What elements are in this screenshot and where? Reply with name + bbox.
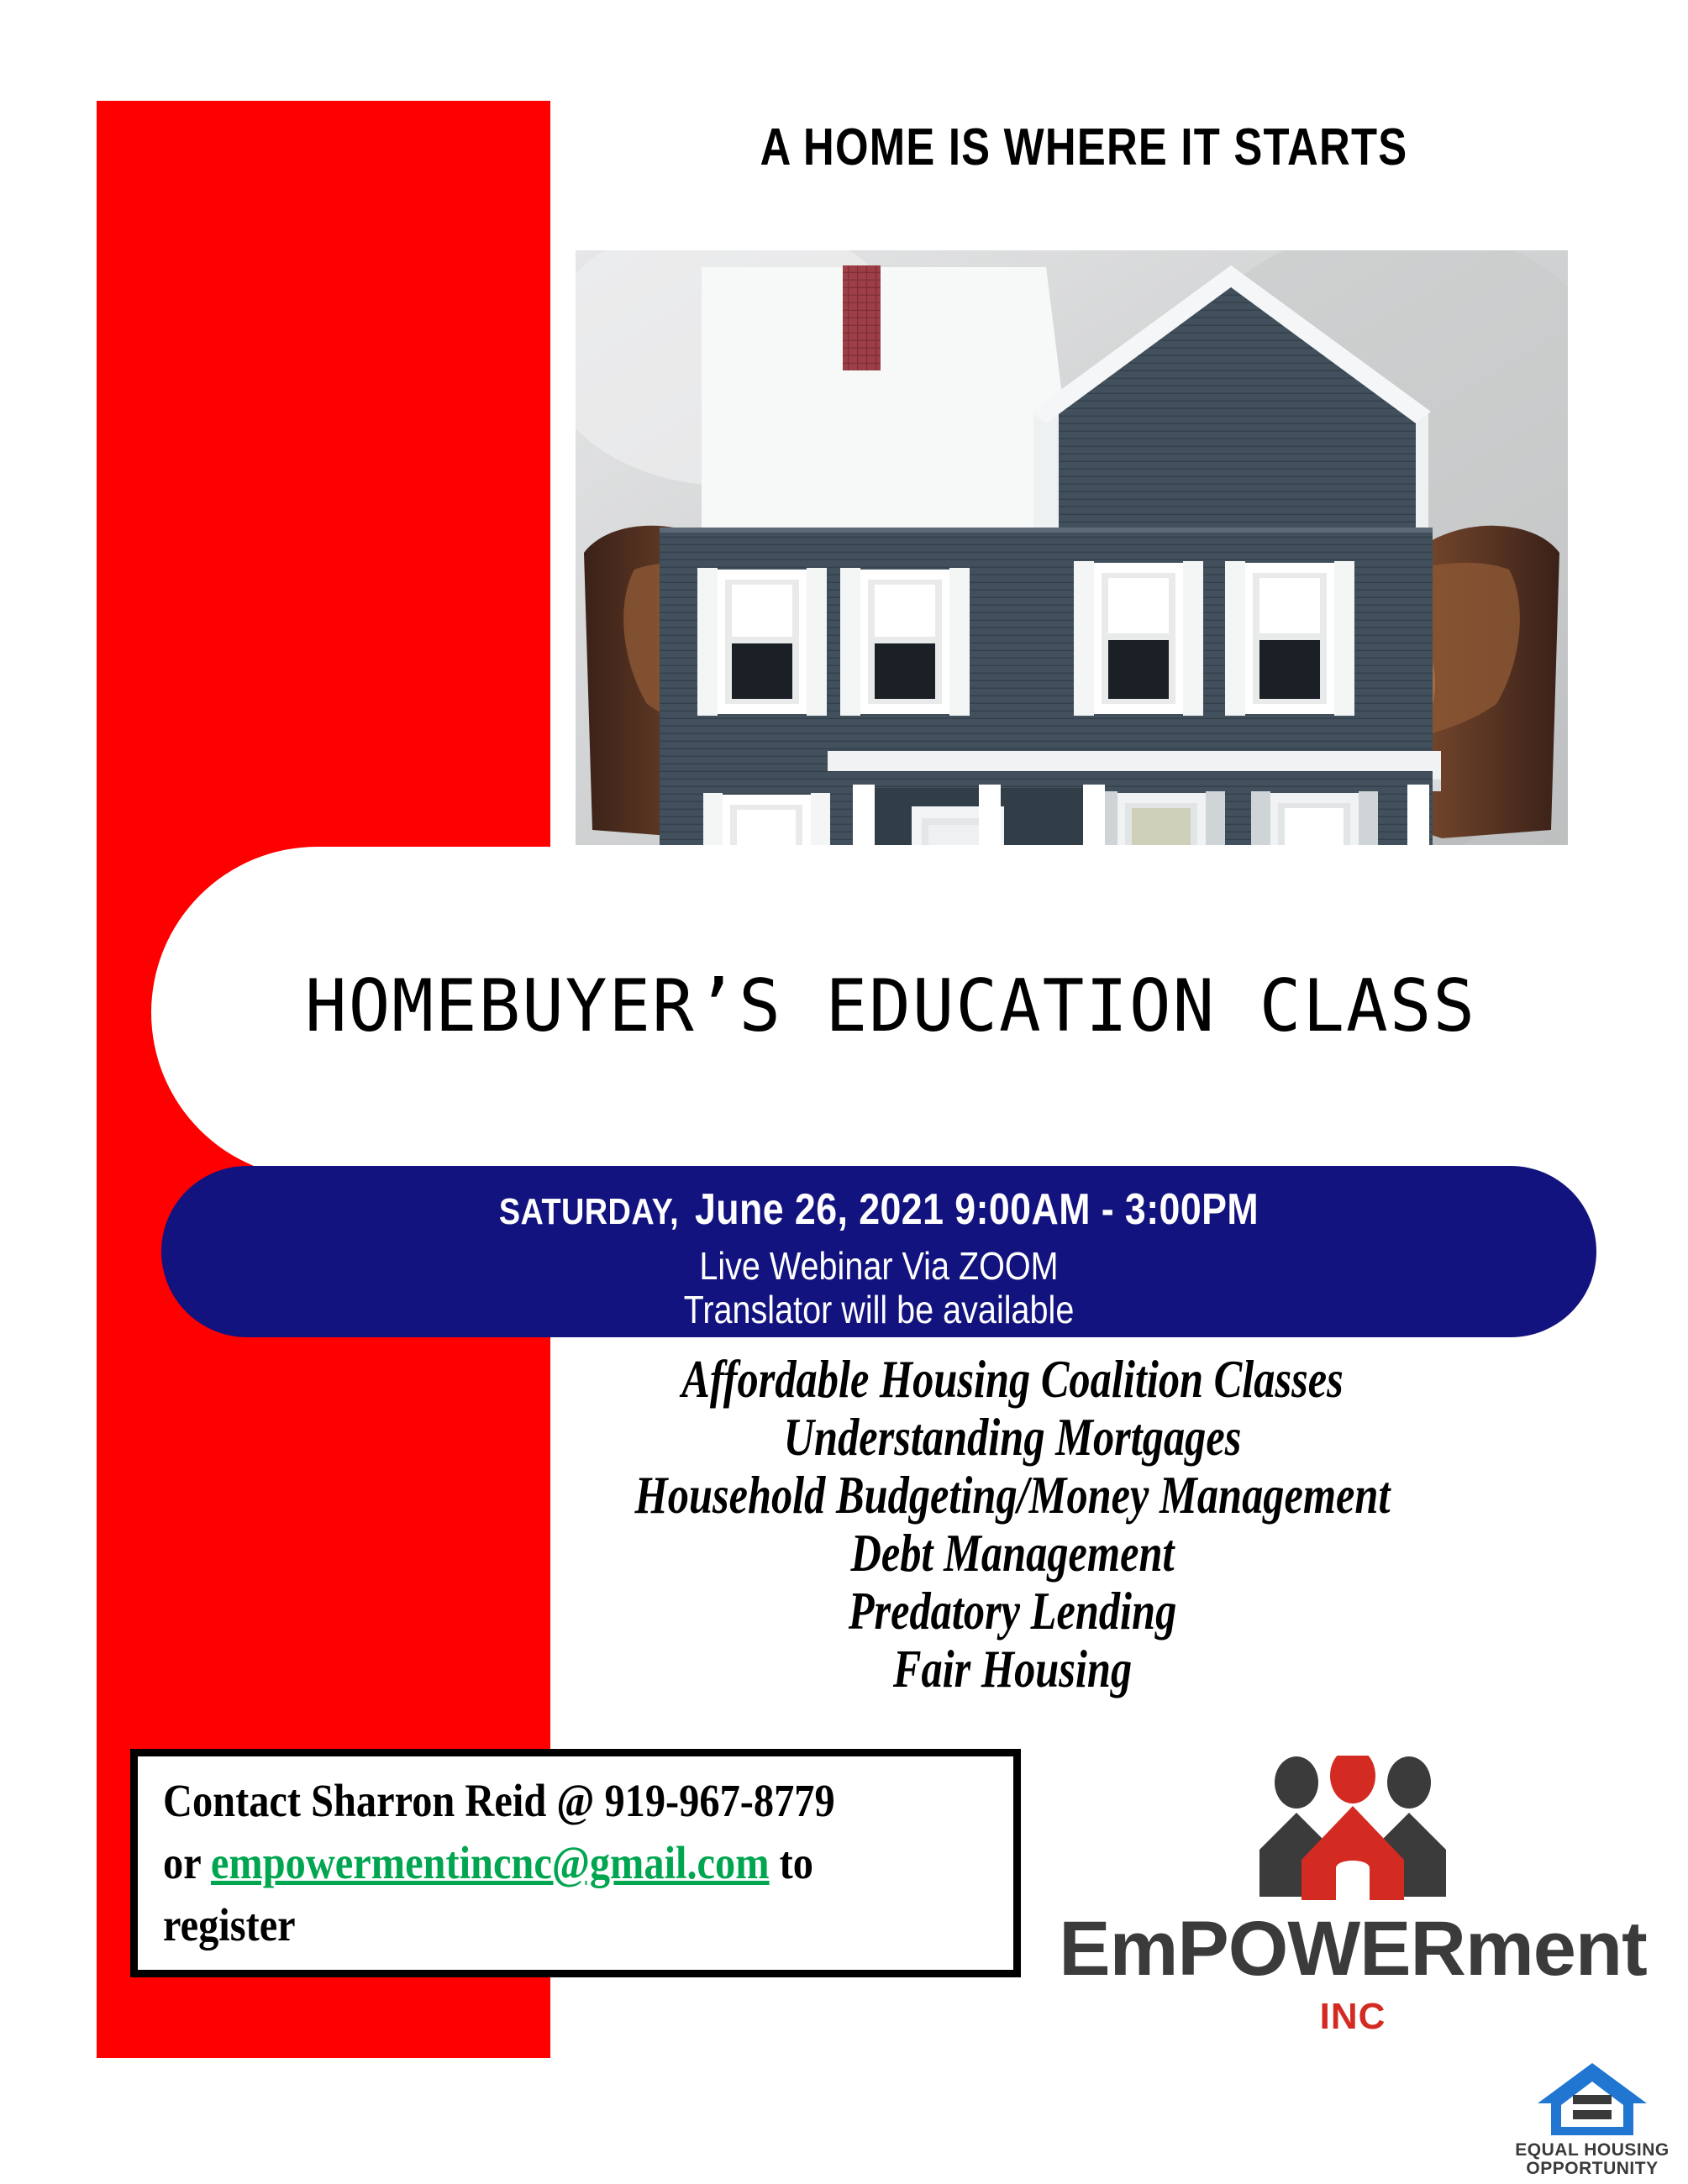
- contact-box: Contact Sharron Reid @ 919-967-8779 or e…: [130, 1749, 1021, 1977]
- eho-line2: OPPORTUNITY: [1512, 2159, 1672, 2179]
- contact-register-label: register: [163, 1899, 296, 1950]
- lower-left-window: [703, 793, 830, 845]
- page-title: A HOME IS WHERE IT STARTS: [649, 118, 1517, 177]
- eho-line1: EQUAL HOUSING: [1512, 2140, 1672, 2160]
- contact-phone-line: Contact Sharron Reid @ 919-967-8779: [163, 1775, 835, 1826]
- banner-date-line: SATURDAY,June 26, 2021 9:00AM - 3:00PM: [262, 1184, 1496, 1235]
- banner-translator-note: Translator will be available: [262, 1287, 1496, 1332]
- list-item: Understanding Mortgages: [579, 1409, 1446, 1467]
- banner-platform: Live Webinar Via ZOOM: [262, 1243, 1496, 1289]
- contact-email-link[interactable]: empowermentincnc@gmail.com: [211, 1837, 770, 1888]
- model-house: [660, 265, 1441, 845]
- equal-housing-house-icon: [1534, 2060, 1650, 2139]
- banner-datetime: June 26, 2021 9:00AM - 3:00PM: [695, 1185, 1259, 1234]
- empowerment-house-people-icon: [1256, 1756, 1449, 1903]
- list-item: Household Budgeting/Money Management: [579, 1467, 1446, 1525]
- event-details-banner: SATURDAY,June 26, 2021 9:00AM - 3:00PM L…: [161, 1166, 1596, 1337]
- equal-housing-opportunity-logo: EQUAL HOUSING OPPORTUNITY: [1512, 2060, 1672, 2179]
- list-item: Affordable Housing Coalition Classes: [579, 1351, 1446, 1409]
- contact-text: Contact Sharron Reid @ 919-967-8779 or e…: [163, 1770, 1013, 1956]
- list-item: Debt Management: [579, 1525, 1446, 1583]
- class-topics-list: Affordable Housing Coalition Classes Und…: [471, 1351, 1554, 1698]
- hands-holding-model-house-photo: [576, 250, 1568, 845]
- class-title: HOMEBUYER’S EDUCATION CLASS: [181, 964, 1601, 1048]
- empowerment-logo: EmPOWERment INC: [1042, 1756, 1664, 2033]
- empowerment-inc-label: INC: [1042, 1996, 1664, 2038]
- list-item: Predatory Lending: [579, 1583, 1446, 1641]
- empowerment-wordmark: EmPOWERment: [1042, 1905, 1664, 1993]
- equal-housing-icon-art: [1534, 2060, 1650, 2139]
- contact-or-label: or: [163, 1837, 211, 1888]
- contact-to-label: to: [770, 1837, 813, 1888]
- banner-day: SATURDAY,: [499, 1191, 679, 1232]
- house-photo-illustration: [576, 250, 1568, 845]
- list-item: Fair Housing: [579, 1641, 1446, 1698]
- house-people-icon-art: [1256, 1756, 1449, 1903]
